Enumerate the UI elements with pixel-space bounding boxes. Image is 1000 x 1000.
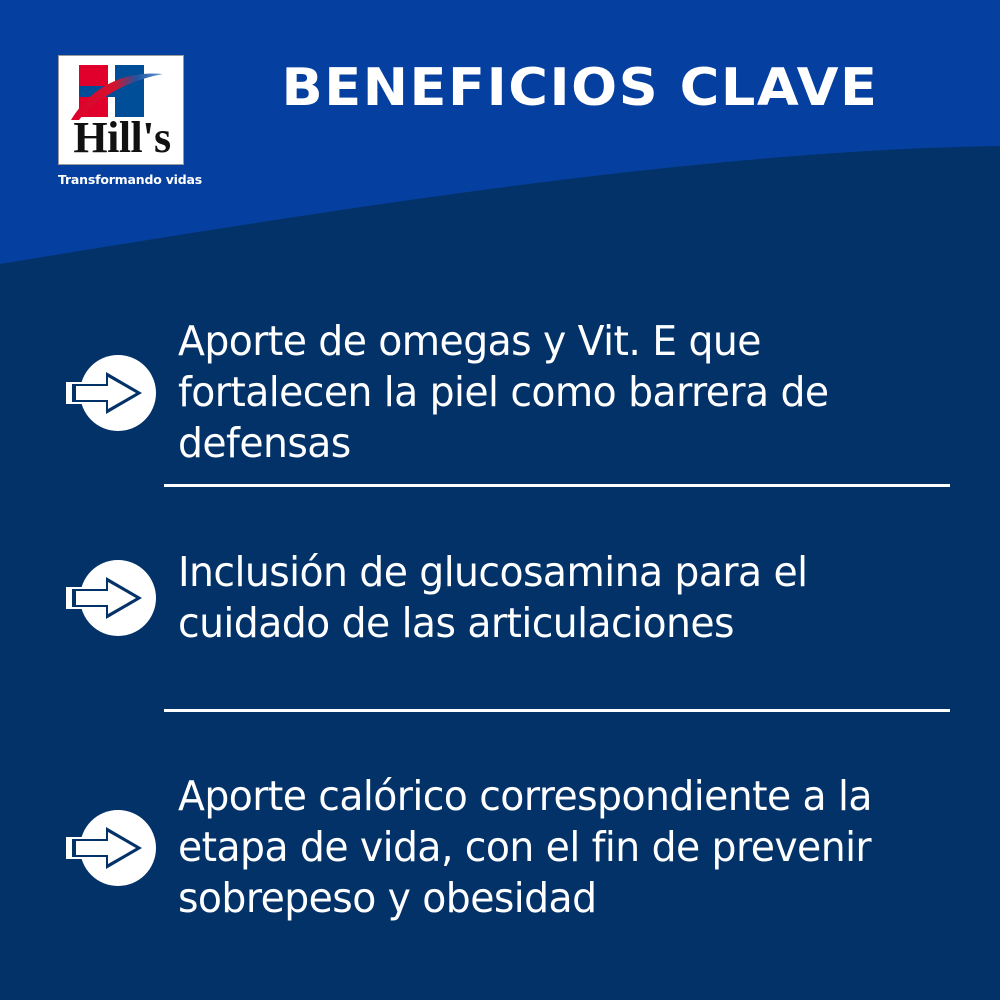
list-item: Aporte de omegas y Vit. E que fortalecen… <box>0 305 1000 480</box>
logo-tagline: Transformando vidas <box>58 172 190 187</box>
logo-tile: Hill's <box>58 55 184 165</box>
list-item: Aporte calórico correspondiente a la eta… <box>0 760 1000 935</box>
benefits-list: Aporte de omegas y Vit. E que fortalecen… <box>0 290 1000 1000</box>
benefits-poster: Hill's Transformando vidas BENEFICIOS CL… <box>0 0 1000 1000</box>
arrow-right-circle-icon <box>62 556 166 640</box>
benefit-text: Inclusión de glucosamina para el cuidado… <box>178 547 929 649</box>
logo-wordmark: Hill's <box>59 114 184 162</box>
arrow-right-circle-icon <box>62 806 166 890</box>
list-item: Inclusión de glucosamina para el cuidado… <box>0 535 1000 660</box>
arrow-right-circle-icon <box>62 351 166 435</box>
section-divider <box>164 484 950 487</box>
brand-logo: Hill's Transformando vidas <box>58 55 186 187</box>
benefit-text: Aporte de omegas y Vit. E que fortalecen… <box>178 316 929 469</box>
benefit-text: Aporte calórico correspondiente a la eta… <box>178 771 929 924</box>
page-title: BENEFICIOS CLAVE <box>185 58 975 118</box>
section-divider <box>164 709 950 712</box>
